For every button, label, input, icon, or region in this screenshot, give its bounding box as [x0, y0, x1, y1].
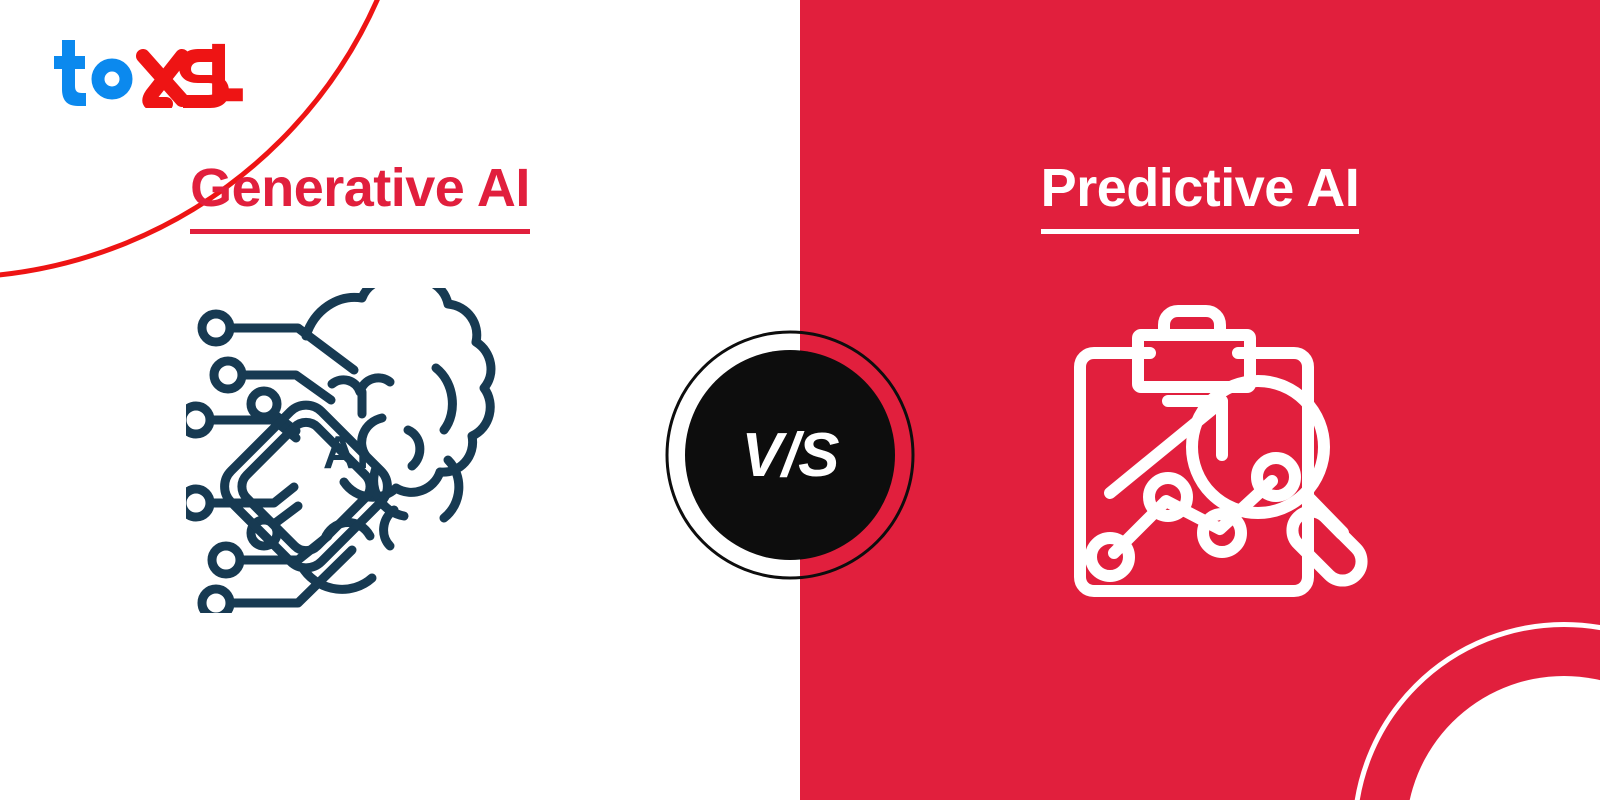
clipboard-analytics-svg — [1062, 305, 1372, 605]
ai-brain-chip-svg: AI — [186, 288, 516, 613]
clipboard-analytics-magnifier-icon — [1062, 305, 1372, 605]
page-title-predictive-ai: Predictive AI — [1041, 160, 1360, 234]
chip-label: AI — [323, 426, 369, 478]
page-title-generative-ai: Generative AI — [190, 160, 530, 234]
right-heading-container: Predictive AI — [900, 160, 1500, 234]
versus-inner-disc — [685, 350, 895, 560]
left-heading-container: Generative AI — [60, 160, 660, 234]
comparison-infographic: Generative AI Predictive AI — [0, 0, 1600, 800]
toxsl-logo[interactable] — [40, 36, 250, 108]
ai-brain-chip-icon: AI — [186, 288, 516, 613]
versus-badge-svg — [663, 328, 917, 582]
versus-badge: V/S — [663, 328, 917, 582]
toxsl-logo-svg — [40, 36, 250, 108]
